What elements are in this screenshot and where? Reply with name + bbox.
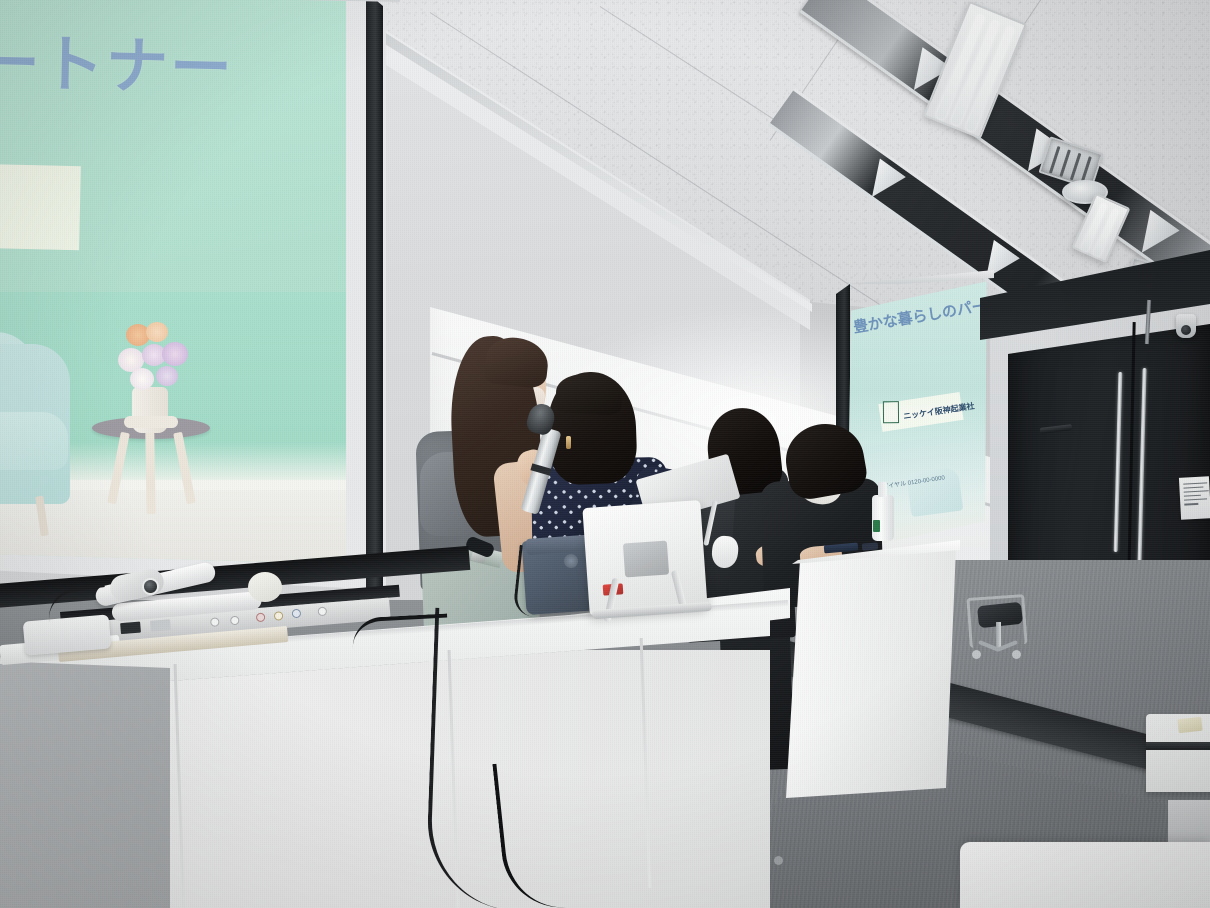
white-podium xyxy=(786,548,956,798)
sign-text-line xyxy=(1184,503,1198,505)
av-port-rect[interactable] xyxy=(150,619,171,632)
foreground-table-front xyxy=(960,842,1210,908)
slide-flower xyxy=(156,366,178,386)
door-notice-sign xyxy=(1179,476,1210,520)
sign-text-line xyxy=(1183,482,1207,485)
photo-canvas: パートナー 会社 豊かな暮らしのパートナー ニッケイ阪神起業社 全国フリーダイヤ… xyxy=(0,0,1210,908)
sanitizer-pump-icon[interactable] xyxy=(878,482,887,497)
secondary-slide-title: 豊かな暮らしのパートナー xyxy=(851,295,985,337)
foreground-table-edge xyxy=(1146,742,1210,750)
sign-text-line xyxy=(1183,490,1208,493)
vent-slat xyxy=(1049,146,1061,174)
av-port-rect[interactable] xyxy=(120,622,141,635)
presenter-2-earring xyxy=(566,436,571,449)
monitor-vesa-mount xyxy=(623,541,669,578)
slide-flower xyxy=(130,368,154,390)
office-chair-wheel xyxy=(972,650,981,659)
av-port[interactable] xyxy=(317,607,327,617)
vent-slat xyxy=(1059,149,1071,177)
av-port[interactable] xyxy=(292,609,302,619)
sign-text-line xyxy=(1183,486,1203,489)
av-port[interactable] xyxy=(230,616,240,626)
podium-device-secondary[interactable] xyxy=(862,542,879,550)
company-logo-mark xyxy=(883,401,899,423)
cabinet-lock[interactable] xyxy=(774,856,783,865)
slide-badge xyxy=(0,162,81,250)
office-chair-post xyxy=(996,622,1001,648)
hand-sanitizer-bottle[interactable] xyxy=(872,495,894,541)
slide-title: パートナー xyxy=(0,10,235,107)
main-projection-screen[interactable]: パートナー 会社 xyxy=(0,0,366,592)
document-camera-lens-icon xyxy=(142,578,159,595)
av-port[interactable] xyxy=(210,617,220,627)
sign-text-line xyxy=(1184,498,1207,501)
slide-armchair-arm xyxy=(0,412,68,470)
slide-bouquet xyxy=(116,322,194,396)
sanitizer-label xyxy=(873,520,880,532)
slide-flower xyxy=(162,342,188,366)
vent-slat xyxy=(1070,153,1082,181)
sign-text-line xyxy=(1183,494,1200,496)
slide-vase-base xyxy=(124,416,178,428)
av-console-left-side xyxy=(0,660,170,908)
projection-screen-bezel xyxy=(366,0,383,632)
slide-side-table-leg xyxy=(145,432,155,514)
av-port[interactable] xyxy=(274,611,284,621)
slide-flower xyxy=(146,322,168,342)
document-camera-joint-knob[interactable] xyxy=(248,572,282,602)
office-chair-wheel xyxy=(1012,650,1021,659)
table-item[interactable] xyxy=(1177,717,1202,733)
camera-lens-icon xyxy=(1181,325,1191,335)
av-port[interactable] xyxy=(256,613,266,623)
